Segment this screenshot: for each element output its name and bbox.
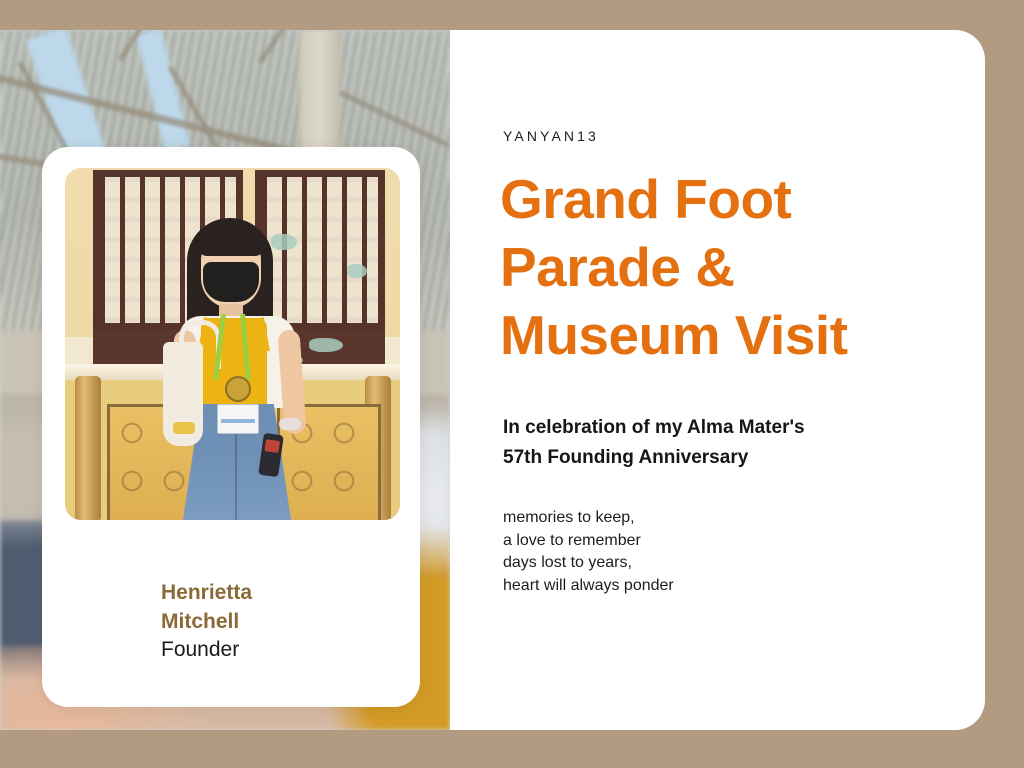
- headline-line-1: Grand Foot: [500, 165, 930, 233]
- wristwatch-left: [173, 422, 195, 434]
- paint-chip-2: [347, 264, 367, 278]
- person-figure: [157, 218, 317, 520]
- medal: [225, 376, 251, 402]
- profile-name: Henrietta Mitchell: [161, 578, 401, 636]
- kicker-label: YANYAN13: [503, 128, 599, 144]
- subheadline-line-1: In celebration of my Alma Mater's: [503, 413, 903, 443]
- subheadline: In celebration of my Alma Mater's 57th F…: [503, 413, 903, 473]
- profile-role: Founder: [161, 636, 239, 663]
- profile-photo: [65, 168, 400, 520]
- content-panel: YANYAN13 Grand Foot Parade & Museum Visi…: [450, 30, 985, 730]
- poem-block: memories to keep, a love to remember day…: [503, 507, 903, 597]
- headline-line-2: Parade &: [500, 233, 930, 301]
- profile-name-line-2: Mitchell: [161, 607, 401, 636]
- fringe: [197, 226, 265, 256]
- poem-line-4: heart will always ponder: [503, 575, 903, 598]
- id-card: [217, 404, 259, 434]
- poster-canvas: YANYAN13 Grand Foot Parade & Museum Visi…: [0, 0, 1024, 768]
- page-title: Grand Foot Parade & Museum Visit: [500, 165, 930, 369]
- poem-line-3: days lost to years,: [503, 552, 903, 575]
- face-mask: [203, 262, 259, 302]
- baluster-left: [75, 376, 101, 520]
- subheadline-line-2: 57th Founding Anniversary: [503, 443, 903, 473]
- profile-name-line-1: Henrietta: [161, 578, 401, 607]
- wristwatch-right: [279, 418, 301, 430]
- poem-line-2: a love to remember: [503, 530, 903, 553]
- profile-card: Henrietta Mitchell Founder: [42, 147, 420, 707]
- headline-line-3: Museum Visit: [500, 301, 930, 369]
- poem-line-1: memories to keep,: [503, 507, 903, 530]
